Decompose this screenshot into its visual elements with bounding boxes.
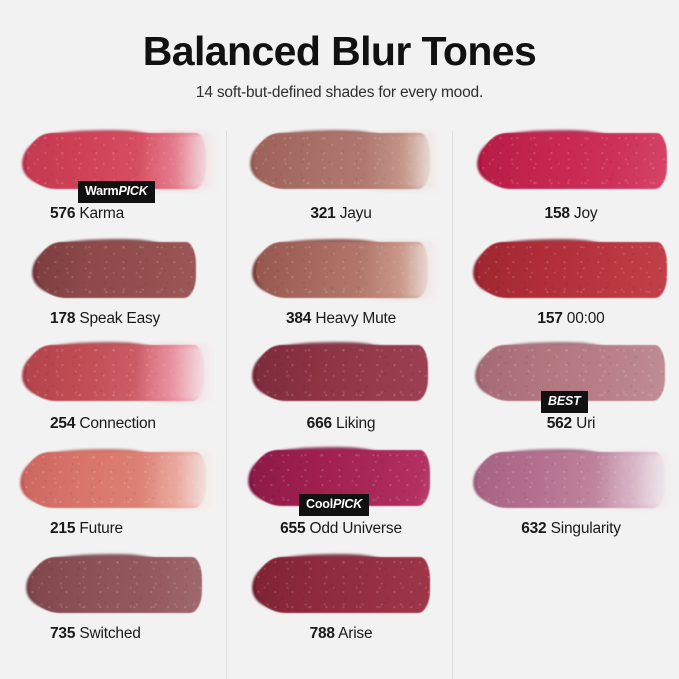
swatch-384-heavy-mute bbox=[244, 236, 452, 306]
shade-code: 562 bbox=[547, 415, 572, 432]
shade-name: Liking bbox=[336, 415, 375, 432]
swatch-fade bbox=[138, 452, 216, 508]
shade-code: 254 bbox=[50, 415, 75, 432]
badge-text: BEST bbox=[548, 394, 581, 408]
shade-label: 384 Heavy Mute bbox=[244, 310, 452, 328]
shade-name: Uri bbox=[576, 415, 595, 432]
badge-prefix: Warm bbox=[85, 184, 118, 198]
shade-cell-254-connection[interactable]: 254 Connection bbox=[22, 341, 226, 446]
swatch-178-speak-easy bbox=[22, 236, 226, 306]
shade-code: 384 bbox=[286, 310, 311, 327]
page-subtitle: 14 soft-but-defined shades for every moo… bbox=[0, 84, 679, 102]
shade-grid: WarmPICK 576 Karma 178 Speak Easy bbox=[0, 131, 679, 679]
shade-cell-788-arise[interactable]: 788 Arise bbox=[244, 551, 452, 656]
shade-label: 666 Liking bbox=[244, 415, 452, 433]
shade-cell-321-jayu[interactable]: 321 Jayu bbox=[244, 131, 452, 236]
swatch-fade bbox=[597, 452, 675, 508]
swatch-576-karma: WarmPICK bbox=[22, 131, 226, 201]
swatch-655-odd-universe: CoolPICK bbox=[244, 446, 452, 516]
page-title: Balanced Blur Tones bbox=[0, 30, 679, 73]
badge-best: BEST bbox=[541, 391, 588, 413]
shade-cell-178-speak-easy[interactable]: 178 Speak Easy bbox=[22, 236, 226, 341]
shade-label: 321 Jayu bbox=[244, 205, 452, 223]
swatch-321-jayu bbox=[244, 131, 452, 201]
shade-column-1: WarmPICK 576 Karma 178 Speak Easy bbox=[0, 131, 226, 679]
shade-column-2: 321 Jayu 384 Heavy Mute bbox=[226, 131, 452, 679]
shade-code: 576 bbox=[50, 205, 75, 222]
shade-cell-215-future[interactable]: 215 Future bbox=[22, 446, 226, 551]
shade-name: Singularity bbox=[551, 520, 621, 537]
shade-cell-157-0000[interactable]: 157 00:00 bbox=[469, 236, 679, 341]
shade-cell-576-karma[interactable]: WarmPICK 576 Karma bbox=[22, 131, 226, 236]
swatch-fade bbox=[136, 345, 214, 401]
swatch-fade bbox=[360, 242, 438, 298]
swatch-texture bbox=[481, 133, 667, 189]
badge-suffix: PICK bbox=[118, 184, 147, 198]
shade-cell-666-liking[interactable]: 666 Liking bbox=[244, 341, 452, 446]
shade-label: 562 Uri bbox=[469, 415, 679, 433]
shade-name: 00:00 bbox=[567, 310, 605, 327]
swatch-texture bbox=[36, 242, 196, 298]
shade-cell-632-singularity[interactable]: 632 Singularity bbox=[469, 446, 679, 551]
badge-warm-pick: WarmPICK bbox=[78, 181, 155, 203]
shade-cell-158-joy[interactable]: 158 Joy bbox=[469, 131, 679, 236]
shade-label: 157 00:00 bbox=[469, 310, 679, 328]
swatch-texture bbox=[256, 345, 428, 401]
swatch-158-joy bbox=[469, 131, 679, 201]
shade-label: 632 Singularity bbox=[469, 520, 679, 538]
shade-label: 735 Switched bbox=[22, 625, 226, 643]
swatch-254-connection bbox=[22, 341, 226, 411]
shade-name: Arise bbox=[338, 625, 372, 642]
badge-prefix: Cool bbox=[306, 497, 333, 511]
swatch-157-0000 bbox=[469, 236, 679, 306]
shade-code: 735 bbox=[50, 625, 75, 642]
shade-code: 321 bbox=[310, 205, 335, 222]
swatch-texture bbox=[30, 557, 202, 613]
shade-code: 666 bbox=[307, 415, 332, 432]
swatch-texture bbox=[477, 242, 667, 298]
swatch-666-liking bbox=[244, 341, 452, 411]
shade-label: 178 Speak Easy bbox=[22, 310, 226, 328]
badge-suffix: PICK bbox=[333, 497, 362, 511]
swatch-632-singularity bbox=[469, 446, 679, 516]
swatch-562-uri: BEST bbox=[469, 341, 679, 411]
shade-name: Jayu bbox=[340, 205, 372, 222]
shade-code: 157 bbox=[537, 310, 562, 327]
swatch-215-future bbox=[22, 446, 226, 516]
shade-label: 254 Connection bbox=[22, 415, 226, 433]
shade-name: Speak Easy bbox=[79, 310, 160, 327]
shade-code: 158 bbox=[545, 205, 570, 222]
shade-name: Odd Universe bbox=[310, 520, 402, 537]
shade-name: Connection bbox=[79, 415, 155, 432]
shade-cell-562-uri[interactable]: BEST 562 Uri bbox=[469, 341, 679, 446]
shade-label: 788 Arise bbox=[244, 625, 452, 643]
badge-cool-pick: CoolPICK bbox=[299, 494, 369, 516]
shade-code: 178 bbox=[50, 310, 75, 327]
shade-label: 158 Joy bbox=[469, 205, 679, 223]
swatch-fade bbox=[362, 133, 440, 189]
shade-code: 655 bbox=[280, 520, 305, 537]
shade-name: Future bbox=[79, 520, 123, 537]
swatch-735-switched bbox=[22, 551, 226, 621]
shade-cell-384-heavy-mute[interactable]: 384 Heavy Mute bbox=[244, 236, 452, 341]
shade-name: Heavy Mute bbox=[315, 310, 396, 327]
shade-label: 215 Future bbox=[22, 520, 226, 538]
swatch-texture bbox=[256, 557, 430, 613]
shade-name: Joy bbox=[574, 205, 598, 222]
shade-name: Switched bbox=[79, 625, 140, 642]
shade-code: 788 bbox=[310, 625, 335, 642]
shade-label: 655 Odd Universe bbox=[244, 520, 452, 538]
shade-column-3: 158 Joy 157 00:00 bbox=[452, 131, 679, 679]
shade-code: 632 bbox=[521, 520, 546, 537]
swatch-788-arise bbox=[244, 551, 452, 621]
shade-label: 576 Karma bbox=[22, 205, 226, 223]
shade-name: Karma bbox=[79, 205, 124, 222]
header: Balanced Blur Tones 14 soft-but-defined … bbox=[0, 0, 679, 102]
shade-cell-655-odd-universe[interactable]: CoolPICK 655 Odd Universe bbox=[244, 446, 452, 551]
shade-code: 215 bbox=[50, 520, 75, 537]
shade-cell-735-switched[interactable]: 735 Switched bbox=[22, 551, 226, 656]
